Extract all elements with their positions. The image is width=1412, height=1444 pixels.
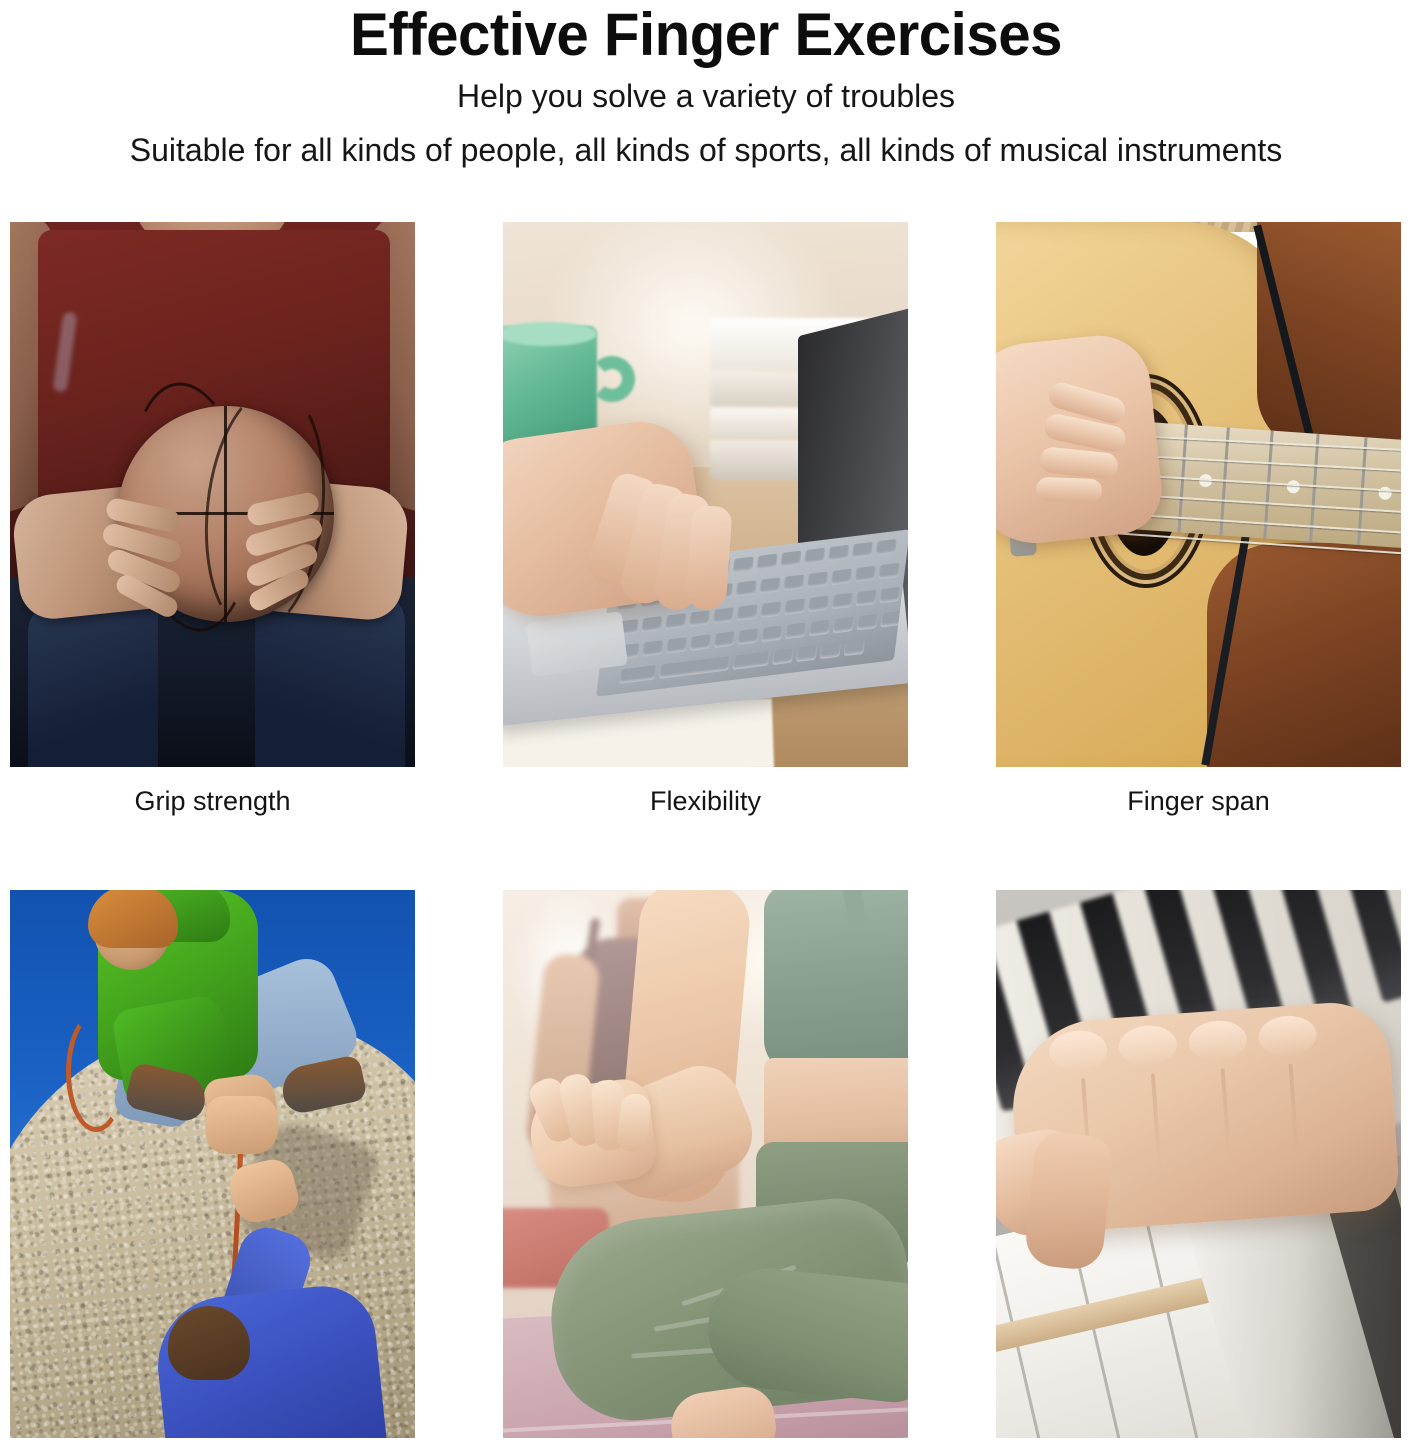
- feature-tile-finger-span: Finger span: [996, 222, 1401, 817]
- laptop-typing-photo: [503, 222, 908, 767]
- rock-climbing-photo: [10, 890, 415, 1438]
- header: Effective Finger Exercises Help you solv…: [0, 0, 1412, 172]
- piano-playing-photo: [996, 890, 1401, 1438]
- tile-caption: Flexibility: [503, 767, 908, 817]
- tile-caption: Coordination: [503, 1438, 908, 1444]
- feature-tile-flexibility: Flexibility: [503, 222, 908, 817]
- tile-caption: Intensity: [996, 1438, 1401, 1444]
- guitar-photo: [996, 222, 1401, 767]
- feature-tile-intensity: Intensity: [996, 890, 1401, 1444]
- basketball-photo: [10, 222, 415, 767]
- tile-caption: Endurance: [10, 1438, 415, 1444]
- feature-tile-coordination: Coordination: [503, 890, 908, 1444]
- yoga-meditation-photo: [503, 890, 908, 1438]
- subtitle-secondary: Suitable for all kinds of people, all ki…: [0, 128, 1412, 172]
- page-title: Effective Finger Exercises: [21, 2, 1391, 68]
- promo-page: Effective Finger Exercises Help you solv…: [0, 0, 1412, 1444]
- feature-tile-endurance: Endurance: [10, 890, 415, 1444]
- feature-tile-grip-strength: Grip strength: [10, 222, 415, 817]
- feature-grid: Grip strength: [10, 222, 1403, 1444]
- tile-caption: Finger span: [996, 767, 1401, 817]
- tile-caption: Grip strength: [10, 767, 415, 817]
- subtitle-primary: Help you solve a variety of troubles: [0, 74, 1412, 118]
